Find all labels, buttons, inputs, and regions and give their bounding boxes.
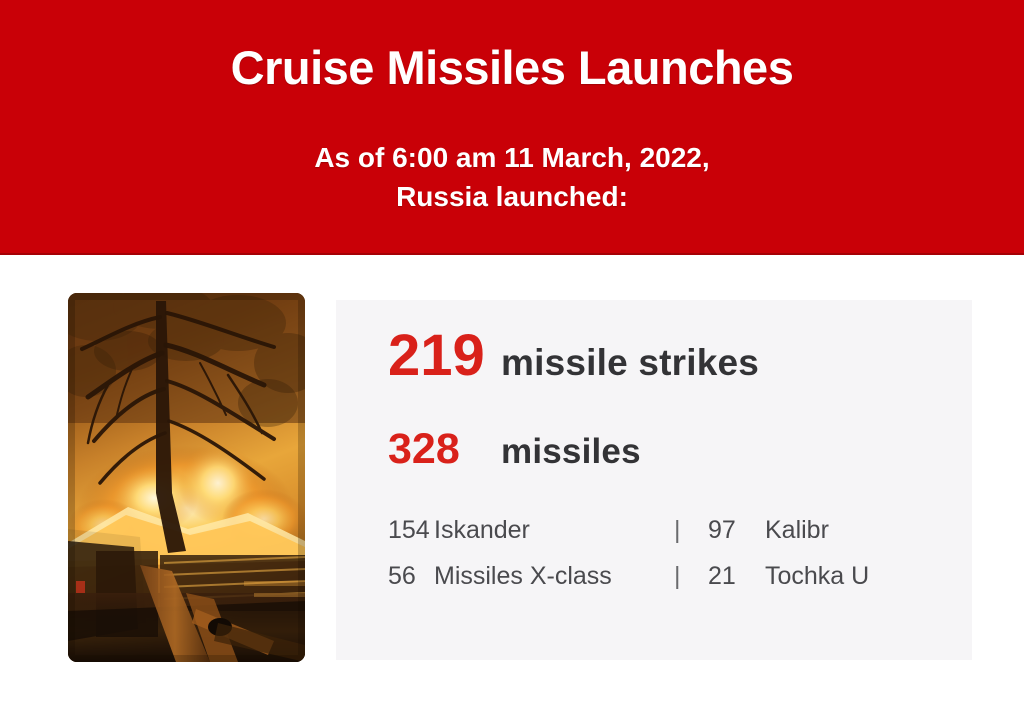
missile-type-breakdown: 154 Iskander | 97 Kalibr 56 Missiles X-c… xyxy=(388,516,948,608)
breakdown-separator: | xyxy=(674,516,708,545)
content-area: 219 missile strikes 328 missiles 154 Isk… xyxy=(0,255,1024,713)
breakdown-name-tochka-u: Tochka U xyxy=(765,562,869,591)
stat-value-missile-strikes: 219 xyxy=(336,327,501,385)
header-subtitle: As of 6:00 am 11 March, 2022, Russia lau… xyxy=(0,94,1024,218)
breakdown-name-kalibr: Kalibr xyxy=(765,516,829,545)
breakdown-qty-tochka-u: 21 xyxy=(708,562,765,591)
fire-photo xyxy=(68,293,305,662)
breakdown-row: 56 Missiles X-class | 21 Tochka U xyxy=(388,562,948,608)
stat-value-missiles: 328 xyxy=(336,428,501,471)
stats-panel: 219 missile strikes 328 missiles 154 Isk… xyxy=(336,300,972,660)
fire-photo-illustration xyxy=(68,293,305,662)
breakdown-qty-x-class: 56 xyxy=(388,562,434,591)
page-title: Cruise Missiles Launches xyxy=(0,0,1024,94)
breakdown-name-x-class: Missiles X-class xyxy=(434,562,674,591)
stat-row-missiles: 328 missiles xyxy=(336,428,641,471)
breakdown-qty-iskander: 154 xyxy=(388,516,434,545)
subtitle-line-1: As of 6:00 am 11 March, 2022, xyxy=(0,138,1024,178)
stat-label-missiles: missiles xyxy=(501,434,641,469)
stat-label-missile-strikes: missile strikes xyxy=(501,344,759,381)
breakdown-name-iskander: Iskander xyxy=(434,516,674,545)
breakdown-qty-kalibr: 97 xyxy=(708,516,765,545)
subtitle-line-2: Russia launched: xyxy=(0,177,1024,217)
breakdown-row: 154 Iskander | 97 Kalibr xyxy=(388,516,948,562)
breakdown-separator: | xyxy=(674,562,708,591)
header-banner: Cruise Missiles Launches As of 6:00 am 1… xyxy=(0,0,1024,255)
stat-row-missile-strikes: 219 missile strikes xyxy=(336,327,759,385)
